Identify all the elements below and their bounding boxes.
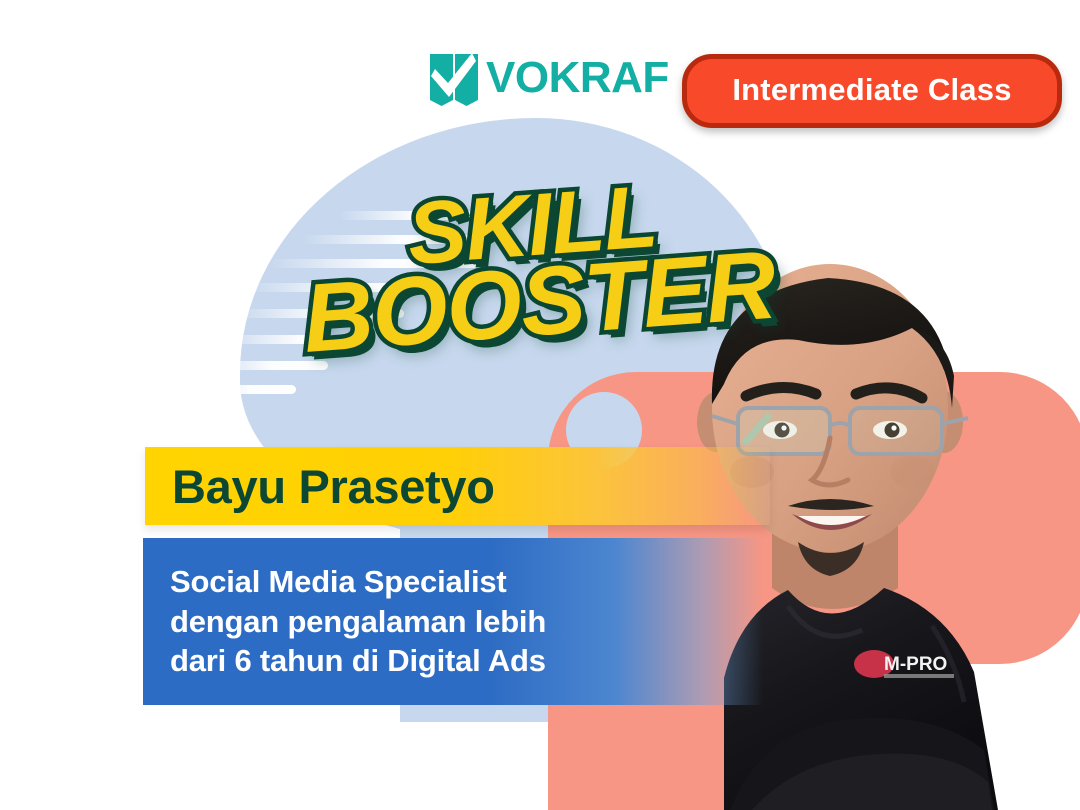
speaker-description-box: Social Media Specialist dengan pengalama…: [143, 538, 763, 705]
description-line-3: dari 6 tahun di Digital Ads: [170, 641, 546, 681]
svg-text:M-PRO: M-PRO: [884, 654, 947, 675]
shirt-logo: M-PRO: [854, 650, 954, 678]
description-line-1: Social Media Specialist: [170, 562, 546, 602]
brand-logo: VOKRAF: [428, 50, 669, 106]
description-line-2: dengan pengalaman lebih: [170, 602, 546, 642]
hero-title: SKILL BOOSTER: [295, 169, 775, 362]
brand-logo-text: VOKRAF: [486, 56, 669, 100]
speaker-name-banner: Bayu Prasetyo: [145, 447, 770, 525]
promo-poster: M-PRO: [0, 0, 1080, 810]
speaker-description: Social Media Specialist dengan pengalama…: [143, 562, 566, 682]
speaker-name: Bayu Prasetyo: [145, 459, 495, 514]
class-level-badge: Intermediate Class: [682, 54, 1062, 128]
book-check-icon: [428, 50, 480, 106]
